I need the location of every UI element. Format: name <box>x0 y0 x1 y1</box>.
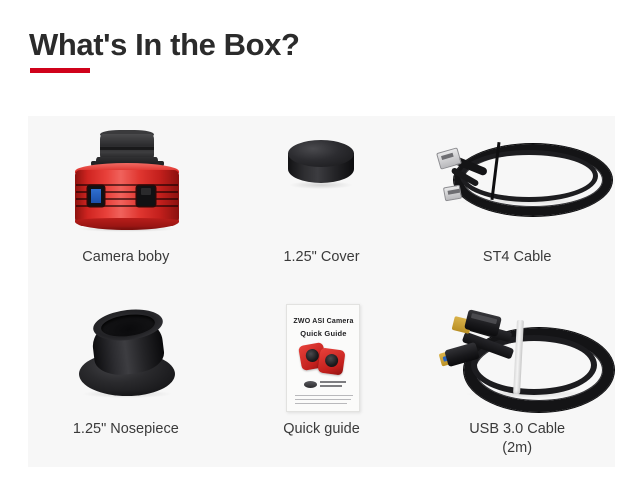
box-item-cover: 1.25" Cover <box>224 116 420 292</box>
nosepiece-icon <box>41 304 211 416</box>
usb-port-icon <box>88 186 104 206</box>
guide-cover-fineprint <box>295 395 353 407</box>
box-item-usb-cable: USB 3.0 Cable (2m) <box>419 292 615 468</box>
item-caption-line1: USB 3.0 Cable <box>469 421 565 437</box>
box-item-nosepiece: 1.25" Nosepiece <box>28 292 224 468</box>
lens-cover-icon <box>236 126 406 244</box>
page-title: What's In the Box? <box>29 26 300 64</box>
camera-body-icon <box>41 126 211 244</box>
box-item-quick-guide: ZWO ASI Camera Quick Guide <box>224 292 420 468</box>
guide-cover-heading-line1: ZWO ASI Camera <box>287 318 359 325</box>
title-accent-underline <box>30 68 90 73</box>
quick-guide-icon: ZWO ASI Camera Quick Guide <box>236 304 406 416</box>
box-item-st4-cable: ST4 Cable <box>419 116 615 292</box>
st4-port-icon <box>137 186 155 206</box>
st4-cable-icon <box>432 126 602 244</box>
item-caption: ST4 Cable <box>483 248 552 267</box>
item-caption: Quick guide <box>283 420 360 439</box>
item-caption: 1.25" Cover <box>283 248 359 267</box>
item-caption: 1.25" Nosepiece <box>73 420 179 439</box>
item-caption: Camera boby <box>82 248 169 267</box>
item-caption-line2: (2m) <box>502 440 532 456</box>
box-contents-grid: Camera boby 1.25" Cover <box>28 116 615 467</box>
usb-cable-icon <box>432 304 602 416</box>
guide-cover-camera-photo <box>300 343 348 373</box>
guide-cover-heading-line2: Quick Guide <box>287 329 359 338</box>
item-caption: USB 3.0 Cable (2m) <box>469 420 565 458</box>
box-item-camera-body: Camera boby <box>28 116 224 292</box>
zwo-logo-icon <box>304 381 317 388</box>
box-contents-panel: Camera boby 1.25" Cover <box>28 116 615 467</box>
